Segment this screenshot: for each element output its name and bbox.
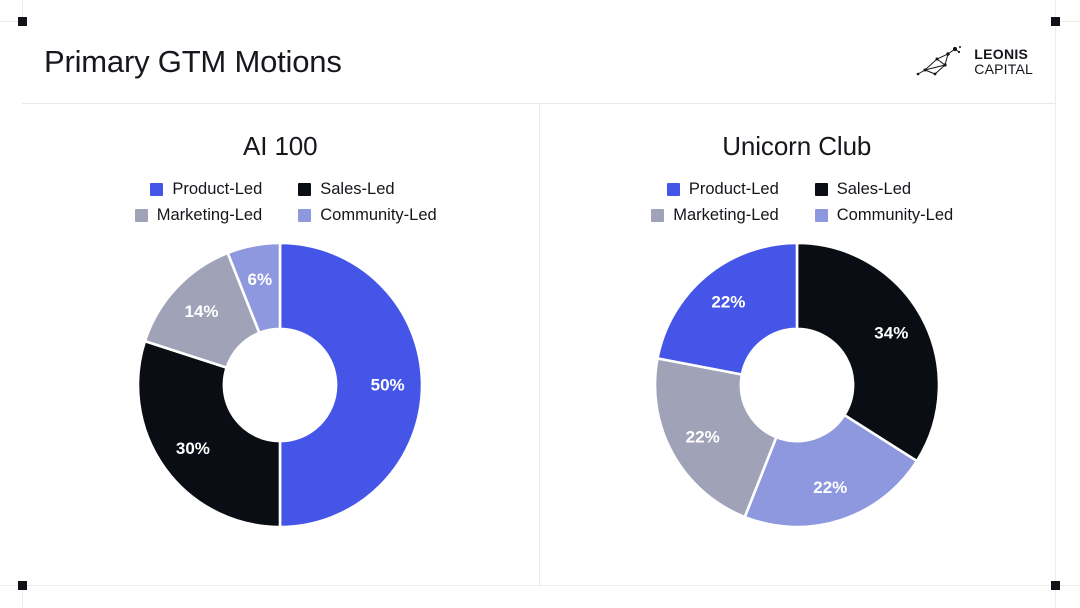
chart-title-unicorn-club: Unicorn Club — [722, 131, 871, 162]
chart-panel-unicorn-club[interactable]: Unicorn Club Product-Led Sales-Led Marke… — [539, 104, 1056, 585]
logo-line-leonis: LEONIS — [974, 47, 1033, 62]
donut-slice-label: 50% — [371, 376, 405, 395]
legend-swatch-community-led — [298, 209, 311, 222]
legend-item-sales-led[interactable]: Sales-Led — [797, 180, 987, 199]
legend-item-marketing-led[interactable]: Marketing-Led — [90, 206, 280, 225]
legend-label-community-led: Community-Led — [320, 206, 436, 225]
chart-title-ai-100: AI 100 — [243, 131, 318, 162]
legend-label-sales-led: Sales-Led — [320, 180, 394, 199]
donut-chart-unicorn-club[interactable]: 34%22%22%22% — [647, 235, 947, 535]
brand-logo: LEONIS CAPITAL — [915, 45, 1033, 79]
donut-slice[interactable] — [797, 243, 939, 461]
chart-legend-unicorn-club: Product-Led Sales-Led Marketing-Led Comm… — [607, 180, 987, 225]
legend-item-community-led[interactable]: Community-Led — [280, 206, 470, 225]
logo-wordmark: LEONIS CAPITAL — [974, 47, 1033, 76]
leo-constellation-icon — [915, 45, 967, 79]
guide-line-right — [1055, 0, 1056, 608]
legend-swatch-product-led — [667, 183, 680, 196]
charts-container: AI 100 Product-Led Sales-Led Marketing-L… — [22, 104, 1055, 585]
donut-slice-label: 22% — [711, 293, 745, 312]
legend-label-community-led: Community-Led — [837, 206, 953, 225]
donut-slice-label: 6% — [248, 270, 273, 289]
legend-label-product-led: Product-Led — [689, 180, 779, 199]
donut-slice-label: 30% — [176, 439, 210, 458]
legend-swatch-sales-led — [815, 183, 828, 196]
legend-swatch-community-led — [815, 209, 828, 222]
guide-line-bottom — [0, 585, 1080, 586]
legend-item-product-led[interactable]: Product-Led — [607, 180, 797, 199]
donut-slice-label: 14% — [185, 302, 219, 321]
chart-panel-ai-100[interactable]: AI 100 Product-Led Sales-Led Marketing-L… — [22, 104, 539, 585]
donut-slice-label: 22% — [685, 427, 719, 446]
slide-canvas[interactable]: Primary GTM Motions — [22, 21, 1055, 585]
legend-swatch-product-led — [150, 183, 163, 196]
donut-slice[interactable] — [138, 341, 280, 527]
legend-label-product-led: Product-Led — [172, 180, 262, 199]
donut-chart-ai-100[interactable]: 50%30%14%6% — [130, 235, 430, 535]
donut-svg-unicorn-club: 34%22%22%22% — [647, 235, 947, 535]
legend-item-product-led[interactable]: Product-Led — [90, 180, 280, 199]
resize-handle-bottom-right[interactable] — [1051, 581, 1060, 590]
resize-handle-top-left[interactable] — [18, 17, 27, 26]
legend-item-marketing-led[interactable]: Marketing-Led — [607, 206, 797, 225]
chart-legend-ai-100: Product-Led Sales-Led Marketing-Led Comm… — [90, 180, 470, 225]
page-title: Primary GTM Motions — [44, 45, 342, 79]
resize-handle-top-right[interactable] — [1051, 17, 1060, 26]
logo-line-capital: CAPITAL — [974, 62, 1033, 77]
legend-label-marketing-led: Marketing-Led — [157, 206, 262, 225]
legend-label-sales-led: Sales-Led — [837, 180, 911, 199]
donut-svg-ai-100: 50%30%14%6% — [130, 235, 430, 535]
legend-swatch-sales-led — [298, 183, 311, 196]
donut-slice-label: 34% — [874, 324, 908, 343]
legend-item-community-led[interactable]: Community-Led — [797, 206, 987, 225]
donut-slice-label: 22% — [813, 478, 847, 497]
legend-label-marketing-led: Marketing-Led — [673, 206, 778, 225]
legend-swatch-marketing-led — [135, 209, 148, 222]
resize-handle-bottom-left[interactable] — [18, 581, 27, 590]
legend-swatch-marketing-led — [651, 209, 664, 222]
legend-item-sales-led[interactable]: Sales-Led — [280, 180, 470, 199]
slide-header: Primary GTM Motions — [22, 21, 1055, 103]
